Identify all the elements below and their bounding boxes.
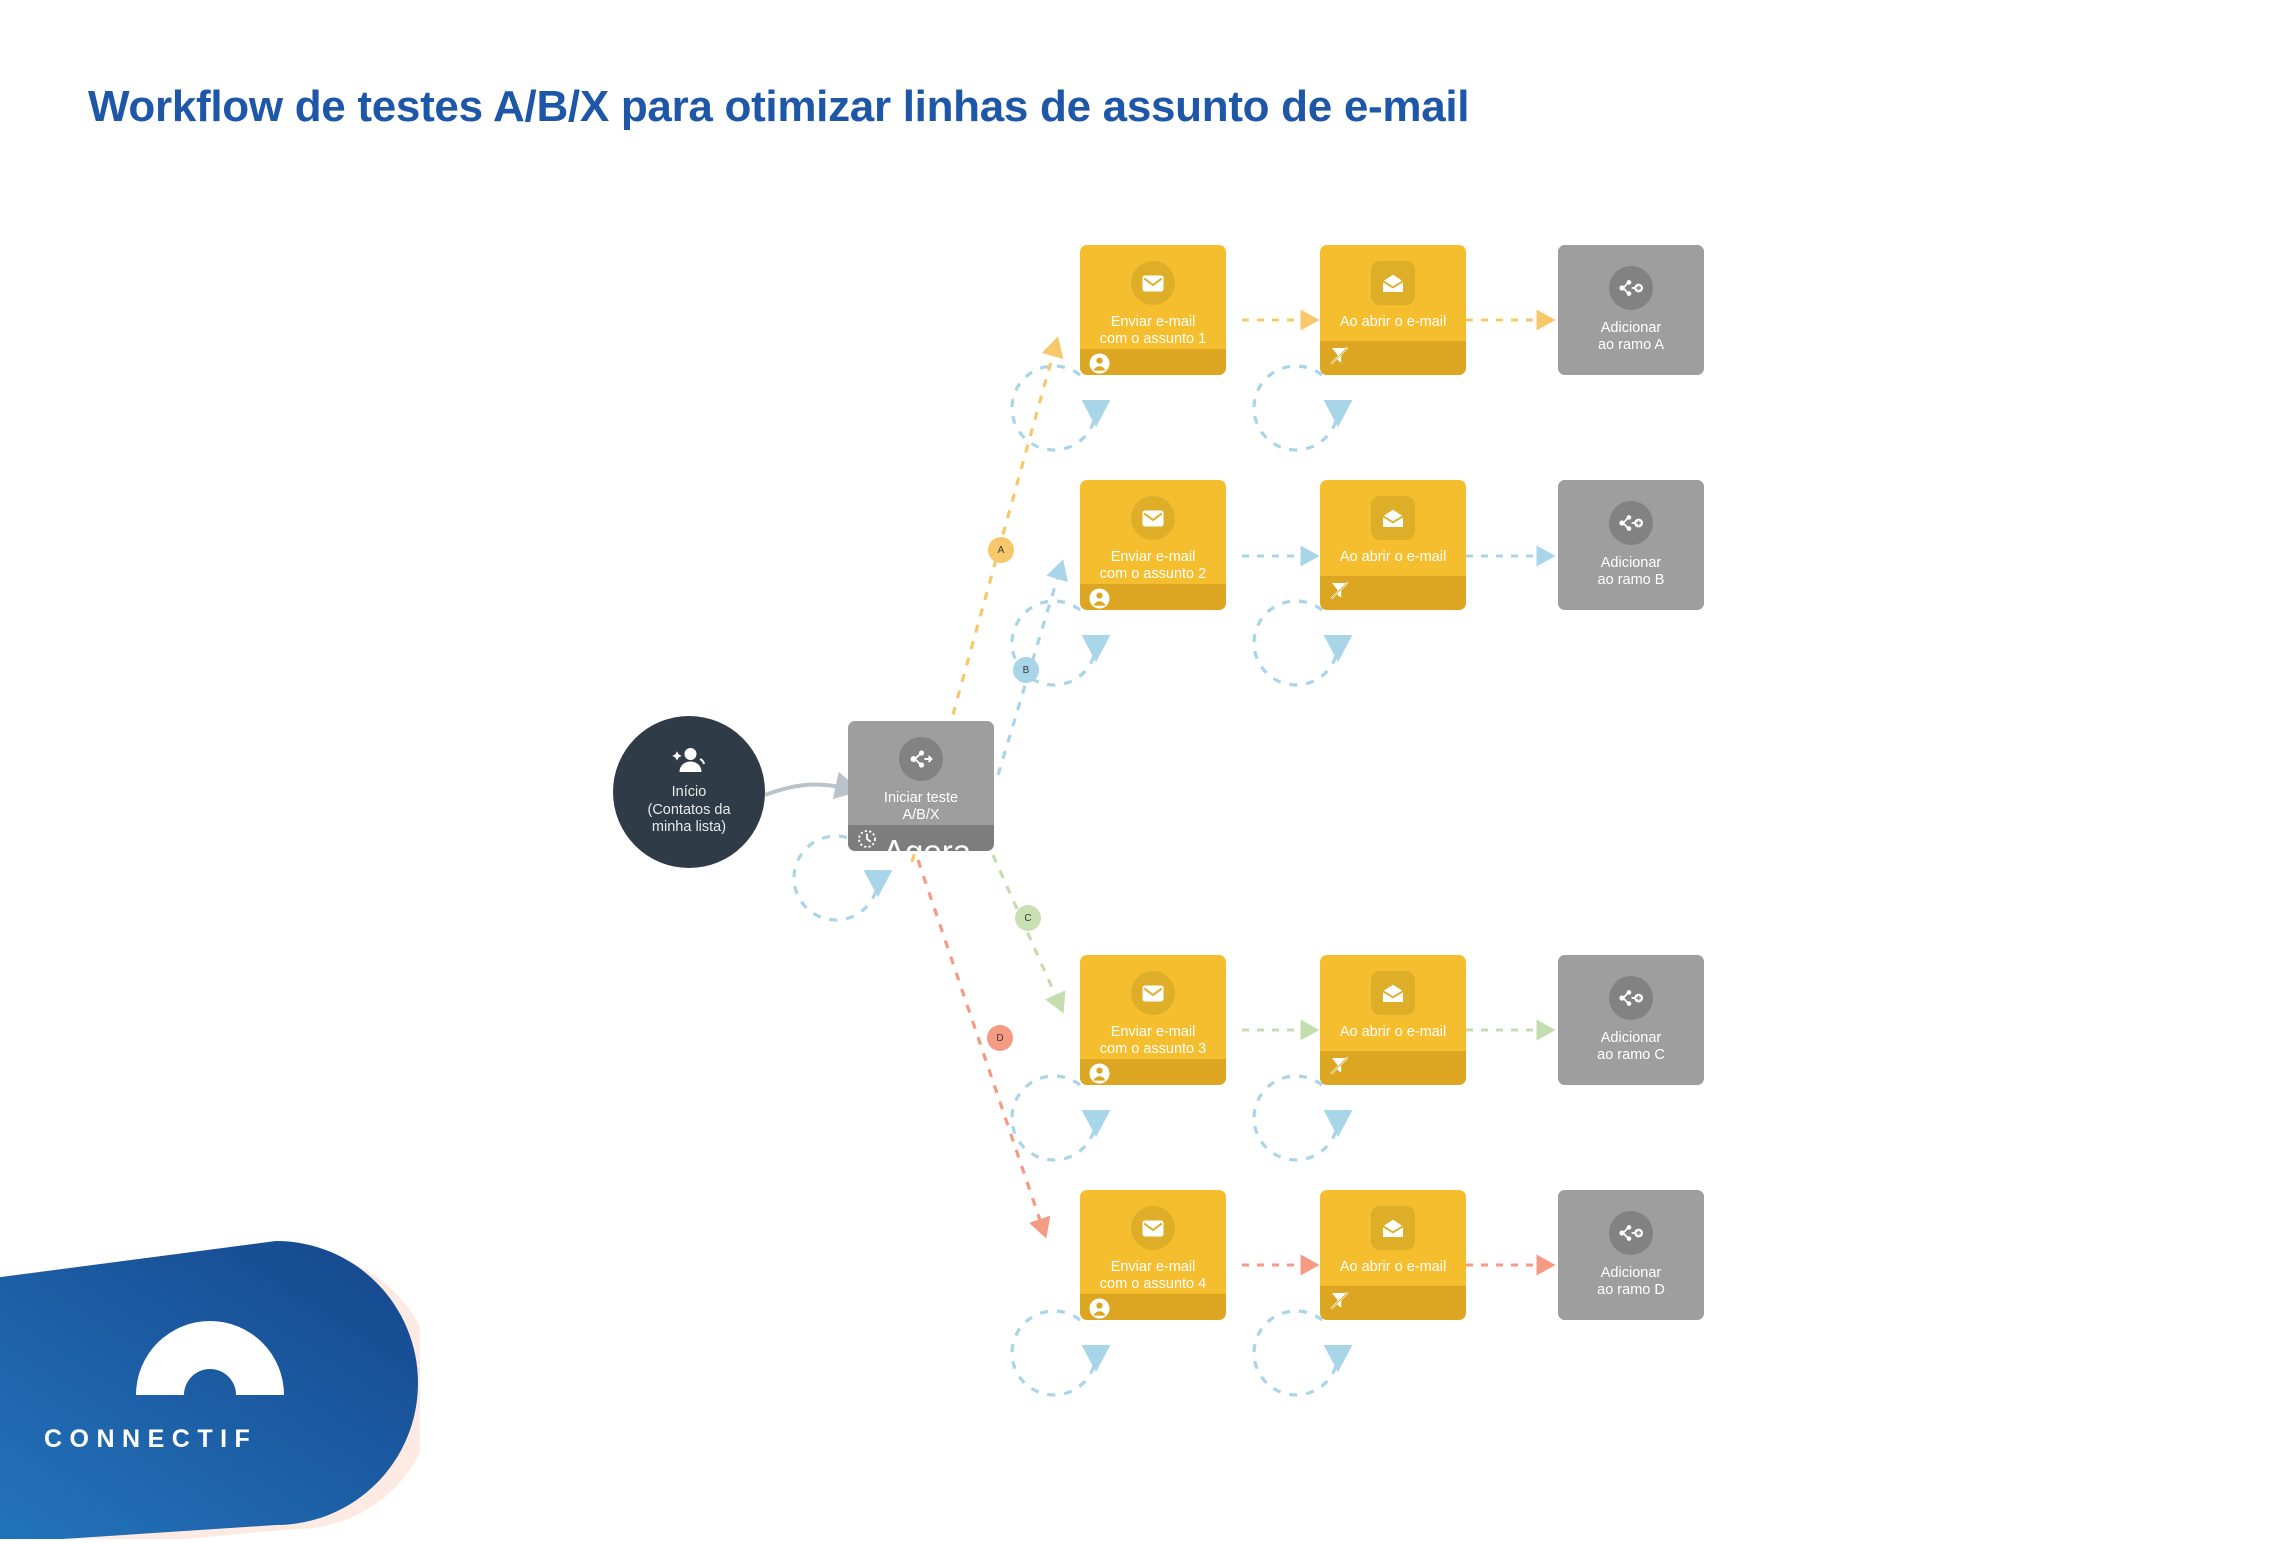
- email-open-footer-4: [1320, 1286, 1466, 1320]
- add-to-branch-label-b: Adicionar ao ramo B: [1592, 555, 1671, 590]
- email-open-label-1: Ao abrir o e-mail: [1334, 314, 1452, 331]
- clock-icon: [857, 829, 877, 851]
- add-contacts-icon: [672, 747, 706, 778]
- envelope-open-icon: [1371, 261, 1415, 305]
- email-open-node-3[interactable]: Ao abrir o e-mail: [1320, 955, 1466, 1085]
- add-to-branch-body-c: Adicionar ao ramo C: [1558, 955, 1704, 1085]
- email-open-footer-2: [1320, 576, 1466, 610]
- add-to-branch-body-a: Adicionar ao ramo A: [1558, 245, 1704, 375]
- contact-person-icon: [1089, 353, 1110, 375]
- email-open-body-1: Ao abrir o e-mail: [1320, 245, 1466, 341]
- envelope-open-icon: [1371, 971, 1415, 1015]
- email-open-node-2[interactable]: Ao abrir o e-mail: [1320, 480, 1466, 610]
- filter-off-icon: [1329, 345, 1350, 371]
- split-node-body: Iniciar teste A/B/X: [848, 721, 994, 825]
- add-to-branch-body-b: Adicionar ao ramo B: [1558, 480, 1704, 610]
- contact-person-icon: [1089, 588, 1110, 610]
- envelope-open-icon: [1371, 496, 1415, 540]
- send-email-label-4: Enviar e-mail com o assunto 4: [1094, 1259, 1212, 1294]
- branch-badge-c: C: [1015, 905, 1041, 931]
- add-to-branch-node-a[interactable]: Adicionar ao ramo A: [1558, 245, 1704, 375]
- contact-person-icon: [1089, 1063, 1110, 1085]
- split-branch-icon: [899, 737, 943, 781]
- send-email-body-1: Enviar e-mail com o assunto 1: [1080, 245, 1226, 349]
- send-email-node-4[interactable]: Enviar e-mail com o assunto 4: [1080, 1190, 1226, 1320]
- email-open-body-4: Ao abrir o e-mail: [1320, 1190, 1466, 1286]
- connectif-wordmark: CONNECTIF: [44, 1425, 257, 1454]
- start-node[interactable]: Início (Contatos da minha lista): [613, 716, 765, 868]
- send-email-footer-3: [1080, 1059, 1226, 1085]
- add-to-branch-label-a: Adicionar ao ramo A: [1592, 320, 1670, 355]
- envelope-open-icon: [1371, 1206, 1415, 1250]
- add-to-branch-label-d: Adicionar ao ramo D: [1591, 1265, 1671, 1300]
- email-open-label-4: Ao abrir o e-mail: [1334, 1259, 1452, 1276]
- email-open-footer-3: [1320, 1051, 1466, 1085]
- split-test-node[interactable]: Iniciar teste A/B/X Agora: [848, 721, 994, 851]
- page-title: Workflow de testes A/B/X para otimizar l…: [88, 82, 1469, 132]
- send-email-label-1: Enviar e-mail com o assunto 1: [1094, 314, 1212, 349]
- connectif-logo-shape: [0, 1229, 420, 1539]
- add-to-branch-icon: [1609, 501, 1653, 545]
- filter-off-icon: [1329, 580, 1350, 606]
- start-node-label: Início (Contatos da minha lista): [647, 784, 730, 837]
- add-to-branch-node-c[interactable]: Adicionar ao ramo C: [1558, 955, 1704, 1085]
- add-to-branch-body-d: Adicionar ao ramo D: [1558, 1190, 1704, 1320]
- send-email-footer-1: [1080, 349, 1226, 375]
- send-email-node-2[interactable]: Enviar e-mail com o assunto 2: [1080, 480, 1226, 610]
- email-open-label-3: Ao abrir o e-mail: [1334, 1024, 1452, 1041]
- send-email-footer-2: [1080, 584, 1226, 610]
- send-email-footer-4: [1080, 1294, 1226, 1320]
- send-email-body-3: Enviar e-mail com o assunto 3: [1080, 955, 1226, 1059]
- add-to-branch-icon: [1609, 266, 1653, 310]
- envelope-closed-icon: [1131, 971, 1175, 1015]
- split-node-footer: Agora: [848, 825, 994, 851]
- send-email-label-2: Enviar e-mail com o assunto 2: [1094, 549, 1212, 584]
- envelope-closed-icon: [1131, 261, 1175, 305]
- send-email-body-2: Enviar e-mail com o assunto 2: [1080, 480, 1226, 584]
- email-open-body-2: Ao abrir o e-mail: [1320, 480, 1466, 576]
- email-open-footer-1: [1320, 341, 1466, 375]
- add-to-branch-label-c: Adicionar ao ramo C: [1591, 1030, 1671, 1065]
- filter-off-icon: [1329, 1055, 1350, 1081]
- add-to-branch-icon: [1609, 976, 1653, 1020]
- add-to-branch-node-d[interactable]: Adicionar ao ramo D: [1558, 1190, 1704, 1320]
- add-to-branch-icon: [1609, 1211, 1653, 1255]
- filter-off-icon: [1329, 1290, 1350, 1316]
- connectif-logo: CONNECTIF: [0, 1229, 420, 1539]
- email-open-node-4[interactable]: Ao abrir o e-mail: [1320, 1190, 1466, 1320]
- send-email-label-3: Enviar e-mail com o assunto 3: [1094, 1024, 1212, 1059]
- branch-badge-d: D: [987, 1025, 1013, 1051]
- email-open-body-3: Ao abrir o e-mail: [1320, 955, 1466, 1051]
- envelope-closed-icon: [1131, 1206, 1175, 1250]
- branch-badge-a: A: [988, 537, 1014, 563]
- email-open-label-2: Ao abrir o e-mail: [1334, 549, 1452, 566]
- branch-badge-b: B: [1013, 657, 1039, 683]
- workflow-canvas: Workflow de testes A/B/X para otimizar l…: [0, 0, 2280, 1539]
- send-email-node-1[interactable]: Enviar e-mail com o assunto 1: [1080, 245, 1226, 375]
- envelope-closed-icon: [1131, 496, 1175, 540]
- send-email-body-4: Enviar e-mail com o assunto 4: [1080, 1190, 1226, 1294]
- send-email-node-3[interactable]: Enviar e-mail com o assunto 3: [1080, 955, 1226, 1085]
- split-node-schedule: Agora: [883, 835, 971, 851]
- email-open-node-1[interactable]: Ao abrir o e-mail: [1320, 245, 1466, 375]
- contact-person-icon: [1089, 1298, 1110, 1320]
- add-to-branch-node-b[interactable]: Adicionar ao ramo B: [1558, 480, 1704, 610]
- split-node-label: Iniciar teste A/B/X: [878, 790, 964, 825]
